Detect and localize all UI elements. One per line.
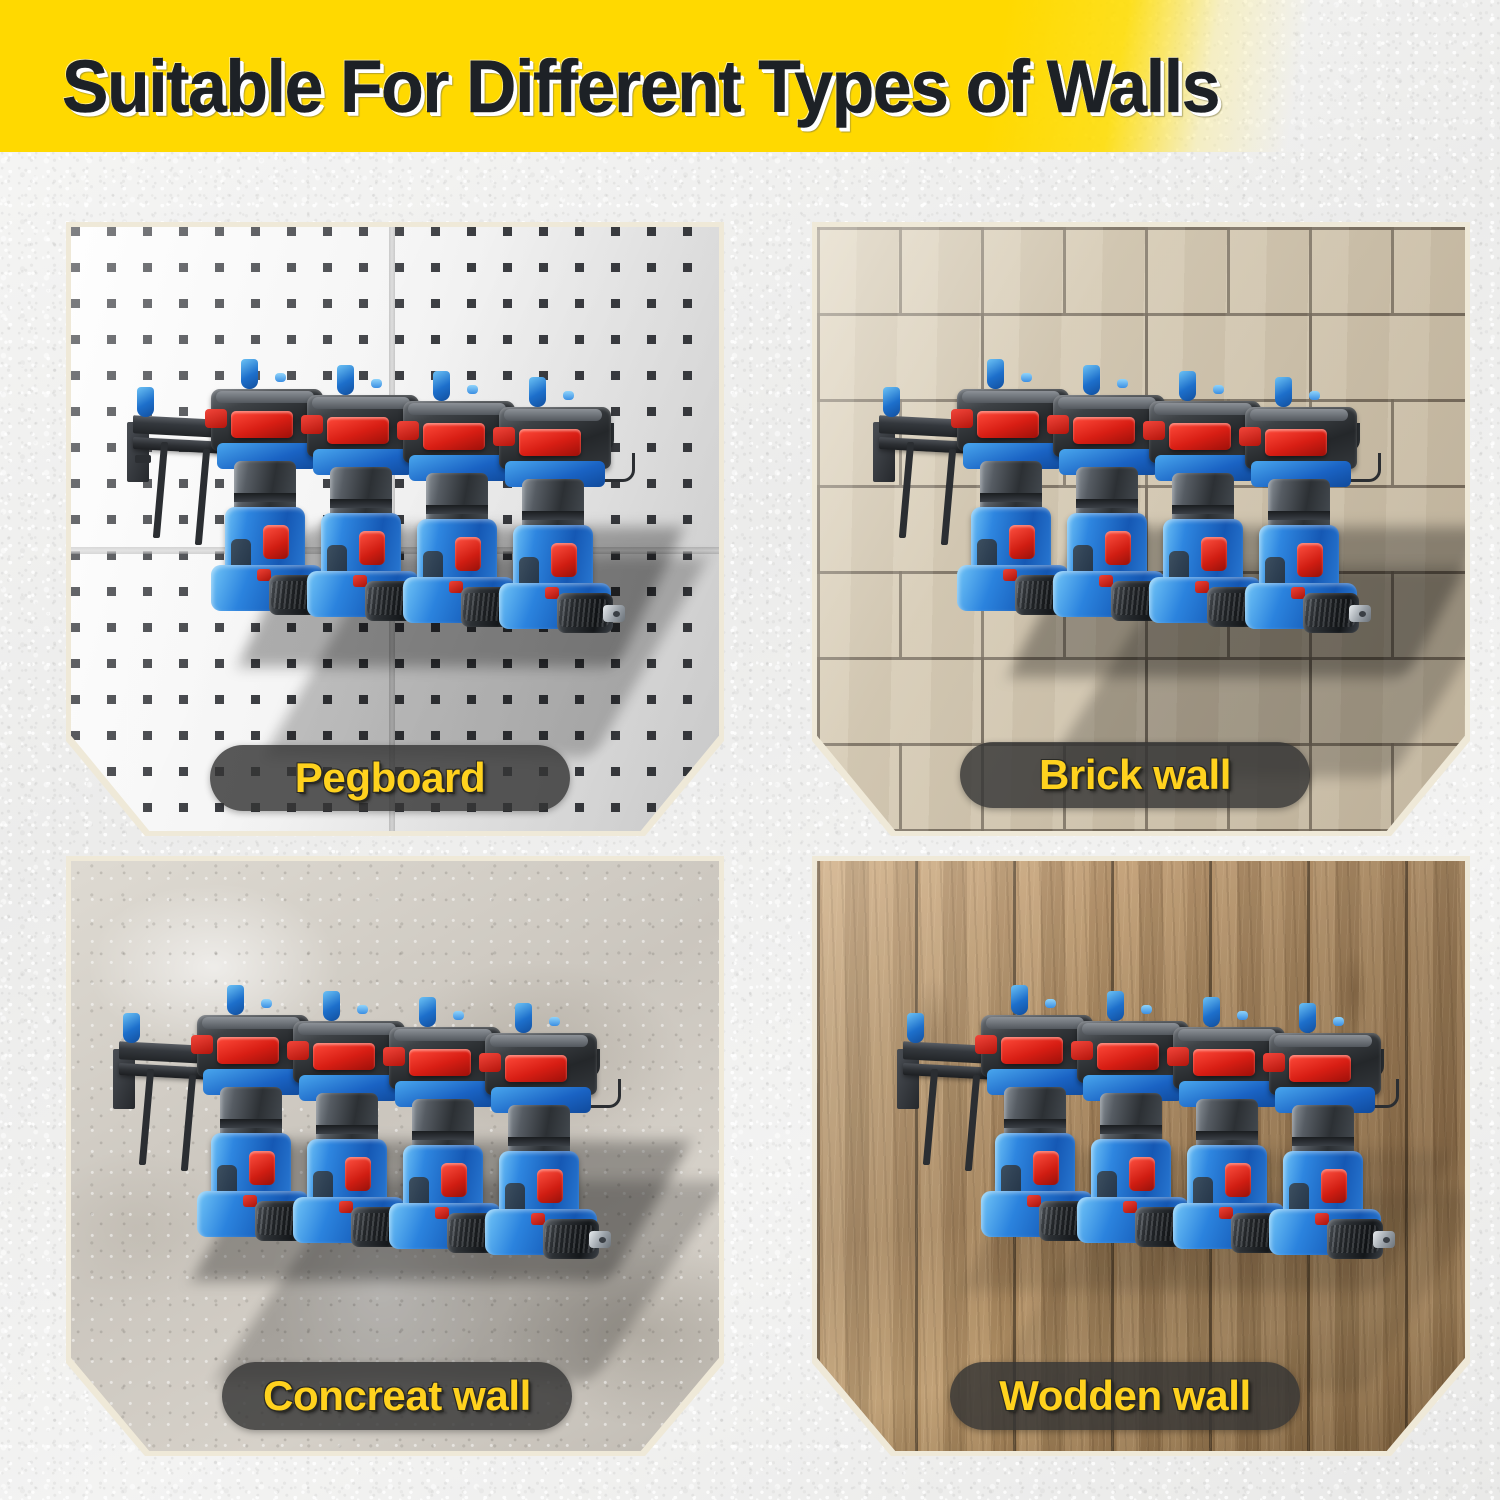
drill-battery-side-accent xyxy=(1239,427,1261,446)
drill-battery-top xyxy=(1250,409,1348,421)
drill-battery-side-accent xyxy=(383,1047,405,1066)
drill-bit-cap-icon xyxy=(275,373,286,382)
drill-battery-release xyxy=(409,1049,471,1076)
tile-label-concrete[interactable]: Concreat wall xyxy=(222,1362,572,1430)
drill-battery-top xyxy=(962,391,1060,403)
drill-battery-side-accent xyxy=(191,1035,213,1054)
drill-battery-top xyxy=(1082,1023,1180,1035)
drill-motor-band xyxy=(1292,1137,1354,1146)
drill-bit-icon xyxy=(1299,1003,1316,1033)
drill-bit-icon xyxy=(337,365,354,395)
drill-battery-top xyxy=(490,1035,588,1047)
drill-trigger xyxy=(359,531,385,565)
drill-battery-side-accent xyxy=(951,409,973,428)
drill-bit-icon xyxy=(323,991,340,1021)
drill-motor-band xyxy=(980,493,1042,502)
tile-brick-photo xyxy=(817,227,1465,831)
header-banner: Suitable For Different Types of Walls xyxy=(0,0,1500,152)
drill-battery-top xyxy=(202,1017,300,1029)
page-title: Suitable For Different Types of Walls xyxy=(62,50,1219,124)
tile-label-text: Pegboard xyxy=(295,757,486,799)
drill-battery-top xyxy=(298,1023,396,1035)
drill-bit-cap-icon xyxy=(1309,391,1320,400)
drill-motor-band xyxy=(330,499,392,508)
drill-battery-release xyxy=(1097,1043,1159,1070)
tile-pegboard[interactable] xyxy=(66,222,724,836)
tile-label-pegboard[interactable]: Pegboard xyxy=(210,745,570,811)
drill-bit-icon xyxy=(1179,371,1196,401)
drill-battery-release xyxy=(327,417,389,444)
drill-bit-cap-icon xyxy=(453,1011,464,1020)
rack-rod xyxy=(923,1069,938,1165)
drill-chuck-grip xyxy=(1305,599,1355,627)
drill-battery-side-accent xyxy=(1071,1041,1093,1060)
drill-bit-cap-icon xyxy=(467,385,478,394)
drill-bit-icon xyxy=(227,985,244,1015)
drill-bit-cap-icon xyxy=(549,1017,560,1026)
drill-battery-release xyxy=(313,1043,375,1070)
drill-battery-side-accent xyxy=(397,421,419,440)
drill-battery-release xyxy=(977,411,1039,438)
drill-battery-top xyxy=(216,391,314,403)
rack-rod xyxy=(899,442,914,538)
drill-battery-side-accent xyxy=(1263,1053,1285,1072)
drill-battery-release xyxy=(505,1055,567,1082)
drill-battery-side-accent xyxy=(301,415,323,434)
drill-bit-cap-icon xyxy=(1021,373,1032,382)
drill-battery-top xyxy=(1178,1029,1276,1041)
drill-trigger xyxy=(1129,1157,1155,1191)
drill-battery-top xyxy=(986,1017,1084,1029)
drill-motor-band xyxy=(1196,1131,1258,1140)
drill-motor-band xyxy=(234,493,296,502)
drill-battery-release xyxy=(231,411,293,438)
drill-chuck-bore xyxy=(599,1237,606,1243)
rack-rod xyxy=(139,1069,154,1165)
drill-trigger xyxy=(1225,1163,1251,1197)
drill-motor-band xyxy=(1172,505,1234,514)
drill-bit-cap-icon xyxy=(1117,379,1128,388)
drill-trigger xyxy=(441,1163,467,1197)
drill-bit-cap-icon xyxy=(1333,1017,1344,1026)
rack-endcap xyxy=(135,455,151,463)
drill-motor-band xyxy=(1100,1125,1162,1134)
drill-chuck-bore xyxy=(1359,611,1366,617)
drill-battery-side-accent xyxy=(205,409,227,428)
drill-battery-release xyxy=(1073,417,1135,444)
drill-bit-icon xyxy=(1107,991,1124,1021)
cordless-drill xyxy=(1241,407,1359,643)
drill-bit-icon xyxy=(529,377,546,407)
drill-battery-release xyxy=(1193,1049,1255,1076)
tile-label-brick[interactable]: Brick wall xyxy=(960,742,1310,808)
drill-chuck-bore xyxy=(1383,1237,1390,1243)
drill-battery-side-accent xyxy=(493,427,515,446)
drill-chuck-bore xyxy=(613,611,620,617)
tile-label-text: Brick wall xyxy=(1039,754,1231,796)
drill-trigger xyxy=(263,525,289,559)
drill-bit-icon xyxy=(1275,377,1292,407)
drill-battery-release xyxy=(217,1037,279,1064)
drill-trigger xyxy=(1297,543,1323,577)
drill-battery-release xyxy=(1265,429,1327,456)
drill-battery-release xyxy=(519,429,581,456)
drill-battery-top xyxy=(408,403,506,415)
drill-chuck-grip xyxy=(545,1225,595,1253)
drill-motor-band xyxy=(508,1137,570,1146)
drill-battery-side-accent xyxy=(975,1035,997,1054)
drill-bit-stored xyxy=(883,387,900,417)
drill-trigger xyxy=(1321,1169,1347,1203)
drill-battery-release xyxy=(1169,423,1231,450)
drill-battery-side-accent xyxy=(287,1041,309,1060)
drill-trigger xyxy=(249,1151,275,1185)
drill-bit-icon xyxy=(1203,997,1220,1027)
cordless-drill xyxy=(495,407,613,643)
drill-battery-top xyxy=(312,397,410,409)
cordless-drill xyxy=(481,1033,599,1269)
drill-battery-side-accent xyxy=(479,1053,501,1072)
drill-bit-cap-icon xyxy=(563,391,574,400)
drill-trigger xyxy=(1201,537,1227,571)
drill-bit-icon xyxy=(1011,985,1028,1015)
drill-bit-cap-icon xyxy=(371,379,382,388)
drill-trigger xyxy=(345,1157,371,1191)
drill-bit-stored xyxy=(123,1013,140,1043)
drill-motor-band xyxy=(1004,1119,1066,1128)
drill-bit-icon xyxy=(419,997,436,1027)
drill-chuck-grip xyxy=(1329,1225,1379,1253)
drill-trigger xyxy=(551,543,577,577)
drill-battery-top xyxy=(1274,1035,1372,1047)
drill-bit-icon xyxy=(987,359,1004,389)
drill-chuck-grip xyxy=(559,599,609,627)
rack-rod xyxy=(153,442,168,538)
tile-label-wood[interactable]: Wodden wall xyxy=(950,1362,1300,1430)
drill-battery-release xyxy=(1001,1037,1063,1064)
drill-bit-cap-icon xyxy=(1045,999,1056,1008)
drill-trigger xyxy=(455,537,481,571)
drill-battery-side-accent xyxy=(1047,415,1069,434)
drill-bit-cap-icon xyxy=(1213,385,1224,394)
drill-motor-band xyxy=(426,505,488,514)
drill-motor-band xyxy=(412,1131,474,1140)
drill-bit-cap-icon xyxy=(261,999,272,1008)
drill-battery-side-accent xyxy=(1143,421,1165,440)
drill-battery-release xyxy=(423,423,485,450)
drill-battery-release xyxy=(1289,1055,1351,1082)
drill-bit-icon xyxy=(241,359,258,389)
drill-bit-cap-icon xyxy=(1237,1011,1248,1020)
drill-motor-band xyxy=(316,1125,378,1134)
tile-label-text: Wodden wall xyxy=(999,1375,1251,1417)
drill-motor-band xyxy=(1076,499,1138,508)
drill-bit-icon xyxy=(1083,365,1100,395)
drill-battery-top xyxy=(1154,403,1252,415)
drill-motor-band xyxy=(522,511,584,520)
drill-bit-stored xyxy=(907,1013,924,1043)
drill-bit-icon xyxy=(515,1003,532,1033)
tile-label-text: Concreat wall xyxy=(263,1375,531,1417)
drill-trigger xyxy=(1105,531,1131,565)
drill-bit-cap-icon xyxy=(357,1005,368,1014)
drill-bit-icon xyxy=(433,371,450,401)
drill-trigger xyxy=(1033,1151,1059,1185)
drill-motor-band xyxy=(220,1119,282,1128)
drill-battery-top xyxy=(394,1029,492,1041)
drill-battery-top xyxy=(1058,397,1156,409)
cordless-drill xyxy=(1265,1033,1383,1269)
drill-trigger xyxy=(537,1169,563,1203)
drill-battery-side-accent xyxy=(1167,1047,1189,1066)
drill-trigger xyxy=(1009,525,1035,559)
drill-bit-cap-icon xyxy=(1141,1005,1152,1014)
drill-bit-stored xyxy=(137,387,154,417)
drill-motor-band xyxy=(1268,511,1330,520)
tile-pegboard-photo xyxy=(71,227,719,831)
drill-battery-top xyxy=(504,409,602,421)
